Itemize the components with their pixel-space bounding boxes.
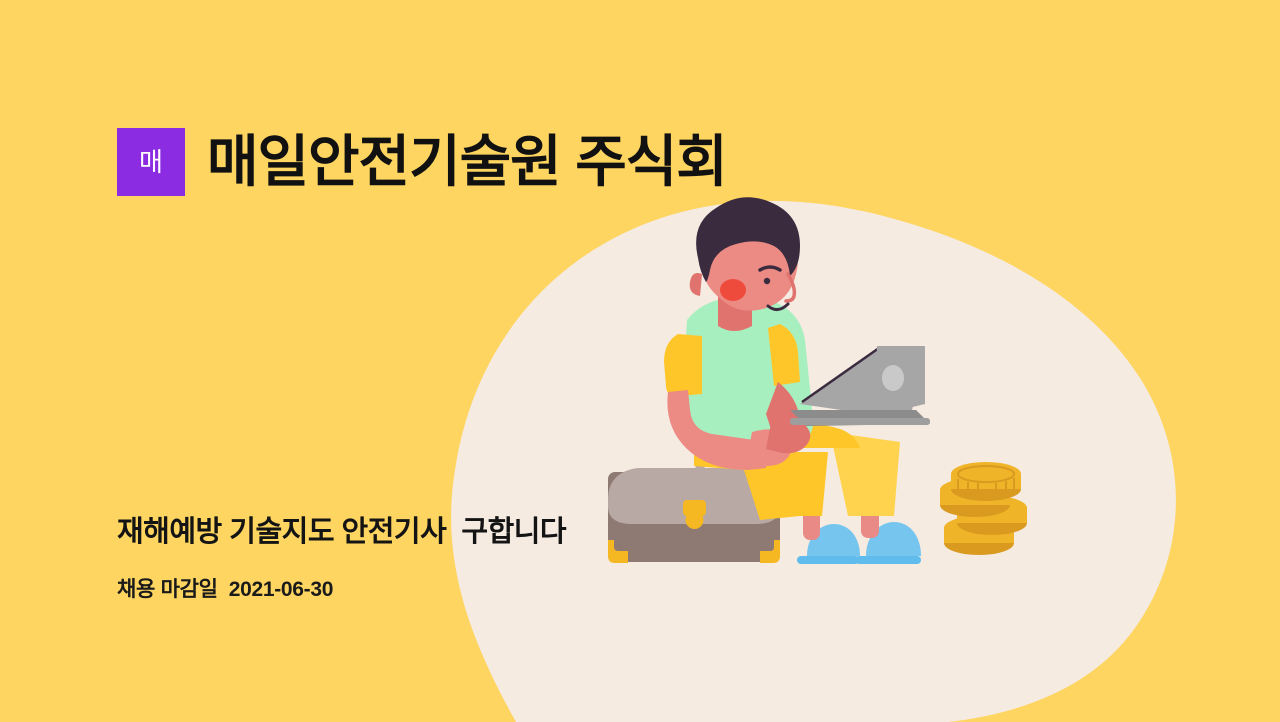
company-logo-initial: 매 <box>139 149 163 175</box>
job-headline: 재해예방 기술지도 안전기사 구합니다 <box>117 508 566 550</box>
company-name-title: 매일안전기술원 주식회 <box>207 133 727 192</box>
background-blob <box>0 0 1280 722</box>
poster-header: 매 매일안전기술원 주식회 <box>117 128 727 196</box>
company-logo-badge: 매 <box>117 128 185 196</box>
application-deadline: 채용 마감일 2021-06-30 <box>117 573 333 603</box>
job-posting-poster: 매 매일안전기술원 주식회 재해예방 기술지도 안전기사 구합니다 채용 마감일… <box>0 0 1280 722</box>
